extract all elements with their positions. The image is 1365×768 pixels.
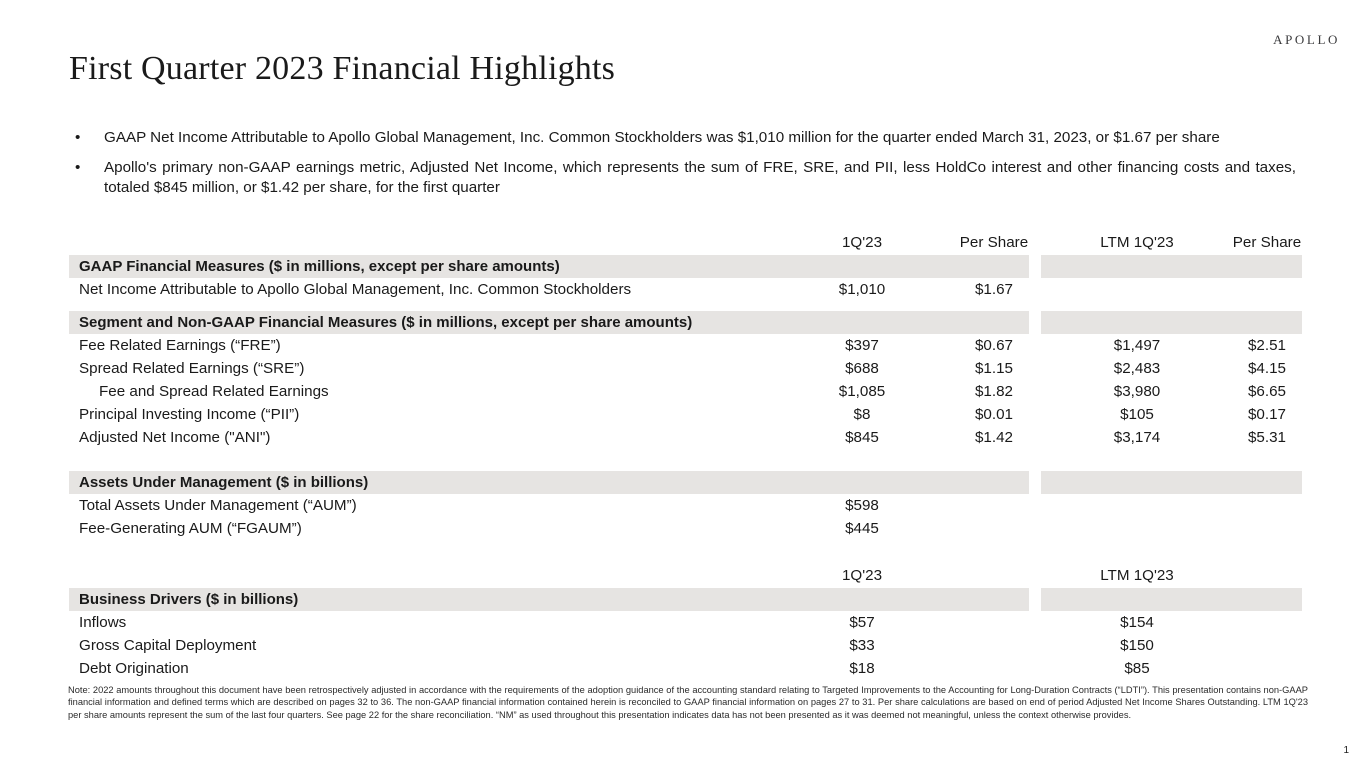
table-row: Fee Related Earnings (“FRE”) $397 $0.67 … [69,334,1302,357]
row-label: Spread Related Earnings (“SRE”) [69,360,796,377]
row-label: Adjusted Net Income ("ANI") [69,429,796,446]
row-value-1q23: $445 [796,520,928,537]
row-label: Gross Capital Deployment [69,637,796,654]
apollo-logo: APOLLO [1273,32,1340,48]
bullet-marker-icon: • [75,128,80,149]
row-value-ltm-per-share: $0.17 [1202,406,1332,423]
row-value-ltm: $3,980 [1072,383,1202,400]
row-label: Fee Related Earnings (“FRE”) [69,337,796,354]
section-title: Assets Under Management ($ in billions) [69,474,796,491]
row-value-ltm-per-share: $2.51 [1202,337,1332,354]
table-row: Fee-Generating AUM (“FGAUM”) $445 [69,517,1302,540]
row-value-1q23: $397 [796,337,928,354]
table-row: Gross Capital Deployment $33 $150 [69,634,1302,657]
table-row: Total Assets Under Management (“AUM”) $5… [69,494,1302,517]
row-value-1q23: $1,010 [796,281,928,298]
page-number: 1 [1343,745,1349,756]
table-header-row-2: 1Q'23 LTM 1Q'23 [69,562,1302,588]
row-label: Debt Origination [69,660,796,677]
financial-table: 1Q'23 Per Share LTM 1Q'23 Per Share GAAP… [69,229,1302,680]
row-value-1q23: $57 [796,614,928,631]
row-value-ltm-per-share: $6.65 [1202,383,1332,400]
row-value-ltm: $105 [1072,406,1202,423]
table-row: Inflows $57 $154 [69,611,1302,634]
row-value-ltm: $1,497 [1072,337,1202,354]
page-title: First Quarter 2023 Financial Highlights [69,50,615,88]
row-value-ltm: $150 [1072,637,1202,654]
row-value-1q23: $8 [796,406,928,423]
column-header-ltm-1q23: LTM 1Q'23 [1072,234,1202,251]
row-label: Fee-Generating AUM (“FGAUM”) [69,520,796,537]
row-spacer [69,449,1302,471]
row-value-ltm: $3,174 [1072,429,1202,446]
row-value-per-share: $0.67 [928,337,1060,354]
band-background-right [1041,588,1302,611]
row-value-per-share: $0.01 [928,406,1060,423]
row-value-1q23: $18 [796,660,928,677]
column-header-per-share: Per Share [928,234,1060,251]
table-row: Debt Origination $18 $85 [69,657,1302,680]
column-header-1q23: 1Q'23 [796,567,928,584]
row-value-per-share: $1.15 [928,360,1060,377]
bullet-marker-icon: • [75,158,80,179]
section-title: Segment and Non-GAAP Financial Measures … [69,314,796,331]
row-value-ltm: $154 [1072,614,1202,631]
row-value-ltm-per-share: $4.15 [1202,360,1332,377]
band-background-right [1041,255,1302,278]
row-spacer [69,301,1302,311]
slide-root: APOLLO First Quarter 2023 Financial High… [0,0,1365,768]
section-title: GAAP Financial Measures ($ in millions, … [69,258,796,275]
row-value-1q23: $688 [796,360,928,377]
row-value-per-share: $1.67 [928,281,1060,298]
row-value-1q23: $845 [796,429,928,446]
row-label: Net Income Attributable to Apollo Global… [69,281,796,298]
row-value-1q23: $33 [796,637,928,654]
table-row: Principal Investing Income (“PII”) $8 $0… [69,403,1302,426]
section-header-segment: Segment and Non-GAAP Financial Measures … [69,311,1302,334]
row-value-ltm: $85 [1072,660,1202,677]
row-value-ltm: $2,483 [1072,360,1202,377]
row-label: Total Assets Under Management (“AUM”) [69,497,796,514]
row-value-1q23: $598 [796,497,928,514]
band-background-right [1041,311,1302,334]
row-value-ltm-per-share: $5.31 [1202,429,1332,446]
bullet-list: • GAAP Net Income Attributable to Apollo… [69,128,1296,199]
table-row: Spread Related Earnings (“SRE”) $688 $1.… [69,357,1302,380]
row-label: Principal Investing Income (“PII”) [69,406,796,423]
list-item: • Apollo's primary non-GAAP earnings met… [69,158,1296,199]
table-row: Net Income Attributable to Apollo Global… [69,278,1302,301]
section-header-business-drivers: Business Drivers ($ in billions) [69,588,1302,611]
section-header-aum: Assets Under Management ($ in billions) [69,471,1302,494]
table-row: Fee and Spread Related Earnings $1,085 $… [69,380,1302,403]
row-value-per-share: $1.82 [928,383,1060,400]
section-title: Business Drivers ($ in billions) [69,591,796,608]
list-item: • GAAP Net Income Attributable to Apollo… [69,128,1296,149]
section-header-gaap: GAAP Financial Measures ($ in millions, … [69,255,1302,278]
band-background-right [1041,471,1302,494]
row-spacer [69,540,1302,562]
bullet-text: GAAP Net Income Attributable to Apollo G… [104,129,1220,146]
row-value-per-share: $1.42 [928,429,1060,446]
column-header-1q23: 1Q'23 [796,234,928,251]
bullet-text: Apollo's primary non-GAAP earnings metri… [104,159,1296,197]
table-row: Adjusted Net Income ("ANI") $845 $1.42 $… [69,426,1302,449]
row-value-1q23: $1,085 [796,383,928,400]
row-label: Fee and Spread Related Earnings [69,383,796,400]
column-header-per-share-ltm: Per Share [1202,234,1332,251]
row-label: Inflows [69,614,796,631]
table-header-row: 1Q'23 Per Share LTM 1Q'23 Per Share [69,229,1302,255]
column-header-ltm-1q23: LTM 1Q'23 [1072,567,1202,584]
footnote-text: Note: 2022 amounts throughout this docum… [68,684,1308,721]
